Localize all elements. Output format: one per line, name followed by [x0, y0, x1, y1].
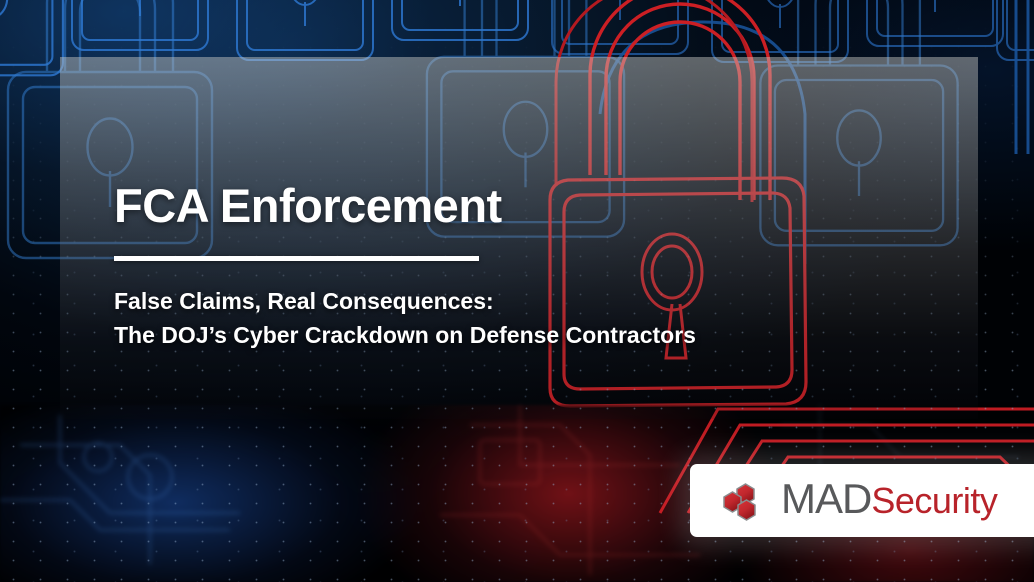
slide-title: FCA Enforcement [114, 178, 502, 233]
hexagon-cluster-icon [723, 477, 775, 525]
mad-security-logo-badge: MADSecurity [690, 464, 1034, 537]
slide-subtitle: False Claims, Real Consequences: The DOJ… [114, 284, 696, 352]
logo-word-security: Security [871, 480, 997, 521]
content-overlay-panel [60, 57, 978, 419]
subtitle-line-2: The DOJ’s Cyber Crackdown on Defense Con… [114, 318, 696, 352]
logo-word-mad: MAD [781, 475, 871, 522]
subtitle-line-1: False Claims, Real Consequences: [114, 284, 696, 318]
logo-wordmark: MADSecurity [781, 478, 997, 520]
title-divider [114, 256, 479, 261]
presentation-slide: FCA Enforcement False Claims, Real Conse… [0, 0, 1034, 582]
